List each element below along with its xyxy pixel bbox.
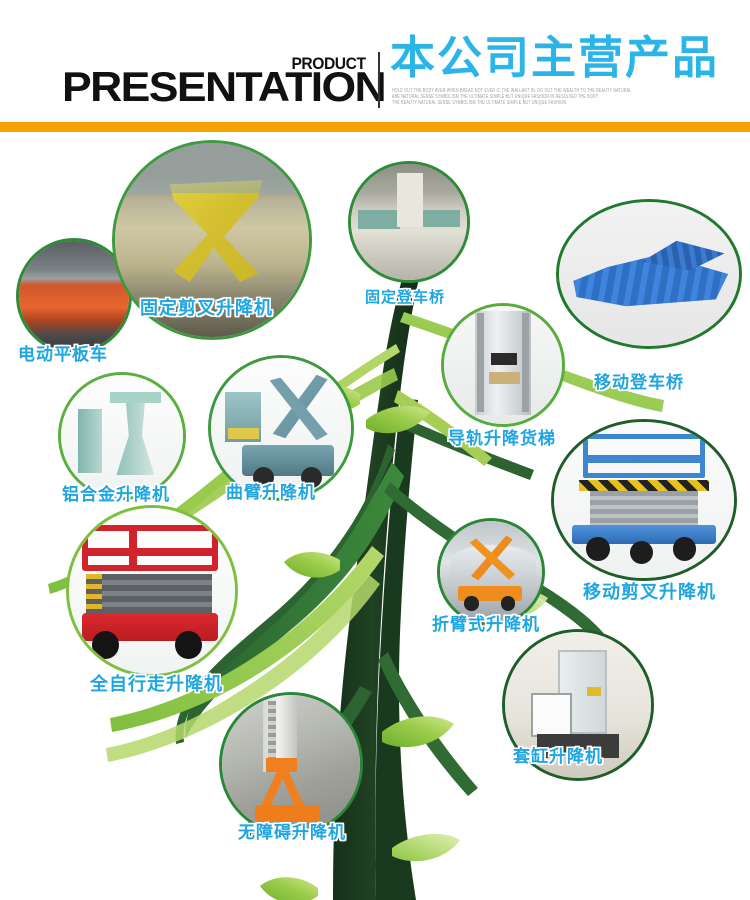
product-image-mobile-dock-ramp[interactable] [556,199,742,349]
product-presentation-poster: PRODUCT PRESENTATION 本公司主营产品 HOLD OUT TH… [0,0,750,900]
product-label-electric-flatbed-truck: 电动平板车 [18,340,108,365]
product-image-telescopic-cylinder-lift[interactable] [219,692,363,836]
header-subtext: HOLD OUT THE BODY AVER WHEN BREAD NOT EV… [392,86,692,105]
product-image-fixed-dock-leveler[interactable] [348,161,470,283]
product-label-fixed-scissor-lift: 固定剪叉升降机 [140,294,273,320]
product-label-mobile-dock-ramp: 移动登车桥 [594,368,684,393]
product-label-fixed-dock-leveler: 固定登车桥 [365,286,445,307]
product-image-guide-rail-cargo-lift[interactable] [441,303,565,427]
product-label-guide-rail-cargo-lift: 导轨升降货梯 [448,424,556,449]
header-subtext-line-3: THE BEAUTY NATURAL SENSE SYMBOLISM THE U… [392,98,692,107]
header-divider [378,52,380,108]
orange-divider-bar [0,122,750,132]
english-title-group: PRODUCT PRESENTATION [62,56,372,106]
product-image-self-propelled-lift[interactable] [66,505,238,677]
product-label-mobile-scissor-lift: 移动剪叉升降机 [583,578,716,604]
poster-header: PRODUCT PRESENTATION 本公司主营产品 HOLD OUT TH… [0,0,750,132]
product-label-articulating-boom-lift: 曲臂升降机 [226,478,316,503]
product-image-mobile-scissor-lift[interactable] [551,419,737,581]
product-label-aluminum-alloy-lift: 铝合金升降机 [62,480,170,505]
product-label-barrier-free-lift: 套缸升降机 [513,742,603,767]
english-title: PRESENTATION [62,66,385,108]
product-label-self-propelled-lift: 全自行走升降机 [90,670,223,696]
chinese-title: 本公司主营产品 [390,33,719,83]
product-label-telescopic-cylinder-lift: 无障碍升降机 [238,818,346,843]
